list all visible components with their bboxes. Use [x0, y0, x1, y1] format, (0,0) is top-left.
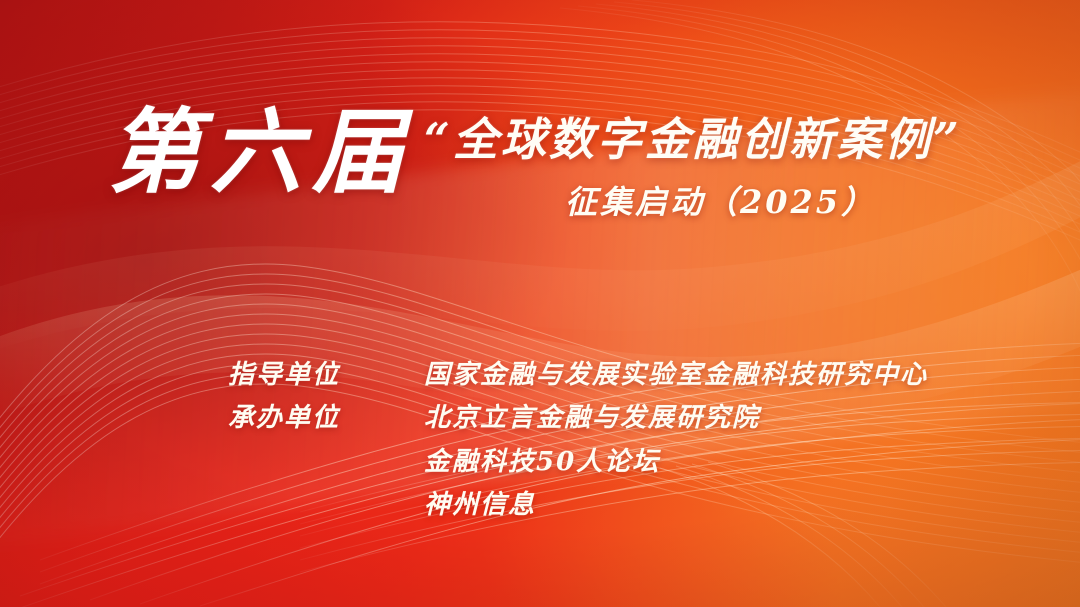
credit-values-organizing-unit: 北京立言金融与发展研究院 金融科技50人论坛 神州信息: [424, 401, 928, 522]
credit-label-guiding-unit: 指导单位: [228, 358, 424, 392]
subtitle: 征集启动（2025）: [565, 185, 876, 220]
program-title: “全球数字金融创新案例”: [424, 116, 962, 165]
credit-value: 神州信息: [424, 488, 928, 522]
credits-block: 指导单位 国家金融与发展实验室金融科技研究中心 承办单位 北京立言金融与发展研究…: [228, 358, 928, 522]
edition-title: 第六届: [108, 106, 414, 198]
credit-label-organizing-unit: 承办单位: [228, 401, 424, 435]
credit-value: 北京立言金融与发展研究院: [424, 401, 928, 435]
poster-canvas: 第六届 “全球数字金融创新案例” 征集启动（2025） 指导单位 国家金融与发展…: [0, 0, 1080, 607]
credit-value: 国家金融与发展实验室金融科技研究中心: [424, 358, 928, 392]
credit-values-guiding-unit: 国家金融与发展实验室金融科技研究中心: [424, 358, 928, 392]
credit-value: 金融科技50人论坛: [424, 445, 928, 479]
